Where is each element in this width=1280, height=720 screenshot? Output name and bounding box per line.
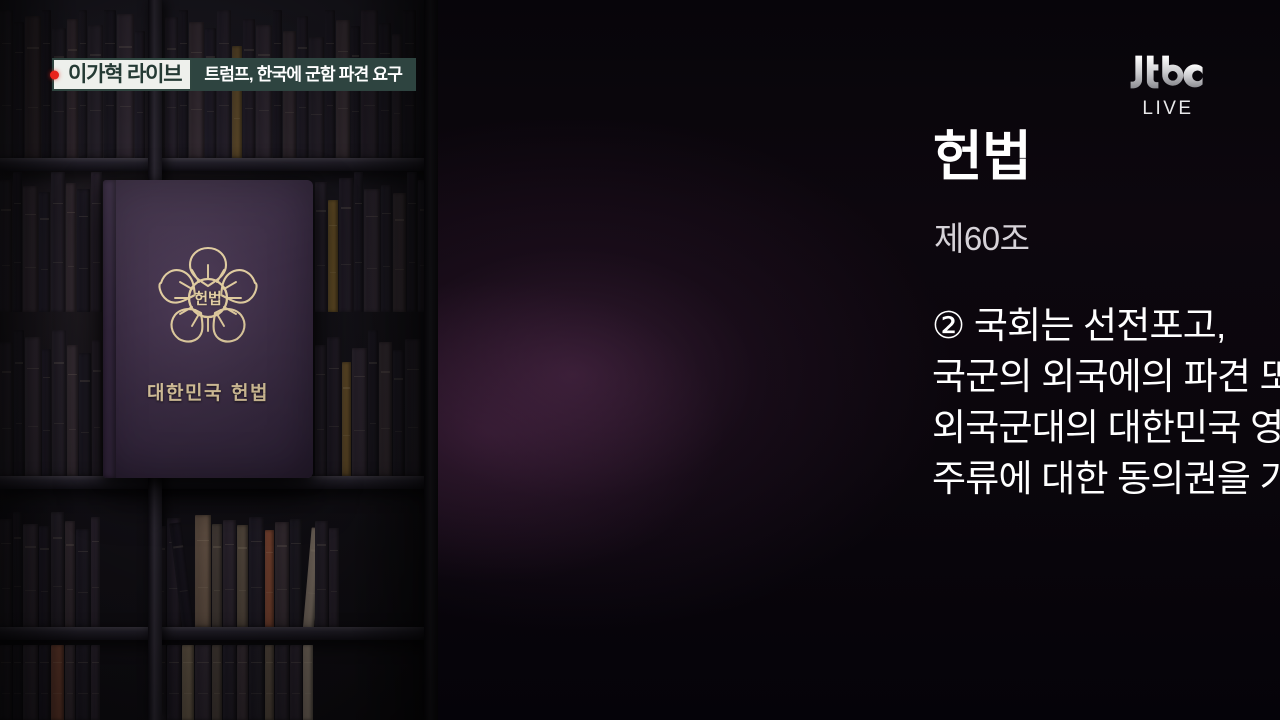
- program-name-label: 이가혁 라이브: [68, 64, 181, 85]
- law-body-text: ② 국회는 선전포고, 국군의 외국에의 파견 또는 외국군대의 대한민국 영역…: [932, 300, 1280, 504]
- jtbc-logo-icon: [1120, 52, 1216, 92]
- law-heading: 헌법: [933, 128, 1031, 186]
- constitution-book: 헌법 대한민국 헌법: [103, 180, 313, 478]
- law-body-line: 국군의 외국에의 파견 또는: [932, 351, 1280, 402]
- law-body-line: ② 국회는 선전포고,: [932, 300, 1280, 351]
- shelf-divider-3: [0, 627, 438, 640]
- mugunghwa-emblem-icon: 헌법: [146, 236, 270, 360]
- law-body-line: 주류에 대한 동의권을 가진다.: [932, 453, 1280, 504]
- book-spine: [103, 180, 116, 478]
- broadcast-screen: 헌법 대한민국 헌법: [0, 0, 1280, 720]
- book-row-bottom-right: [155, 645, 438, 720]
- book-row-fourth-left: [0, 512, 140, 627]
- book-row-second-right: [315, 172, 438, 312]
- live-red-dot-icon: [50, 70, 59, 79]
- news-banner: 이가혁 라이브 트럼프, 한국에 군함 파견 요구: [52, 58, 416, 91]
- emblem-center-label: 헌법: [194, 288, 222, 309]
- law-article-number: 제60조: [934, 212, 1029, 260]
- book-row-fourth-right: [155, 512, 438, 627]
- law-body-line: 외국군대의 대한민국 영역 안에서의: [932, 402, 1280, 453]
- law-content-panel: LIVE 헌법 제60조 ② 국회는 선전포고, 국군의 외국에의 파견 또는 …: [438, 0, 1280, 720]
- book-row-bottom-left: [0, 645, 140, 720]
- shelf-divider-1: [0, 158, 438, 171]
- book-row-third-right: [315, 330, 438, 476]
- headline-plate: 트럼프, 한국에 군함 파견 요구: [192, 58, 416, 91]
- jtbc-logo-block: LIVE: [1098, 52, 1238, 120]
- live-indicator-label: LIVE: [1098, 98, 1238, 120]
- bookshelf-background: 헌법 대한민국 헌법: [0, 0, 438, 720]
- shelf-upright-right-edge: [424, 0, 438, 720]
- headline-label: 트럼프, 한국에 군함 파견 요구: [204, 66, 402, 83]
- book-cover-title: 대한민국 헌법: [103, 378, 313, 405]
- program-name-plate: 이가혁 라이브: [52, 58, 192, 91]
